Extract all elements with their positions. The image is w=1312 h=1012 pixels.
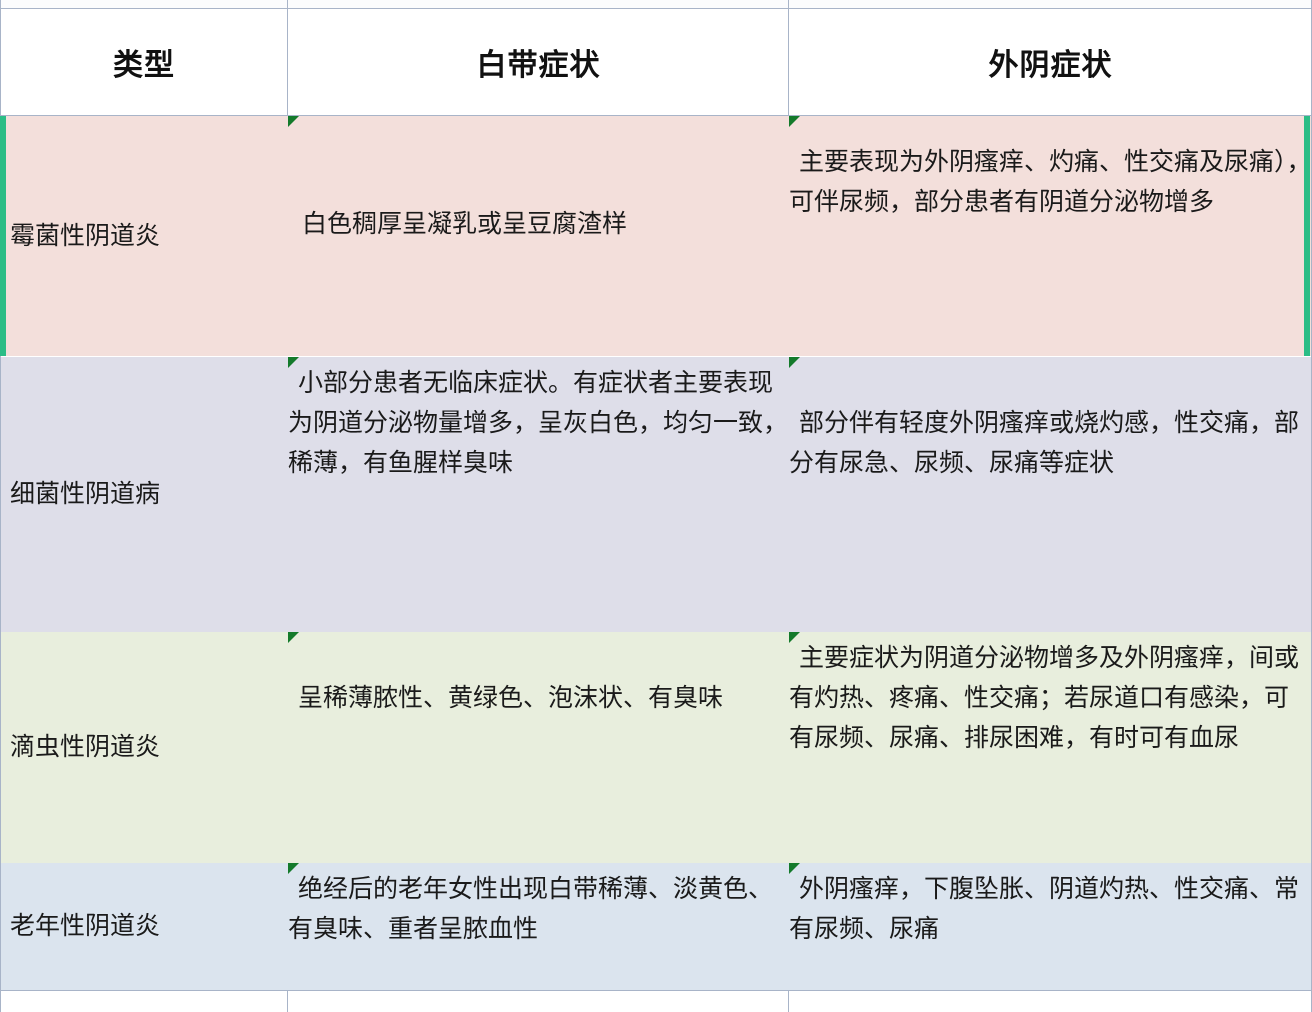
cell-type-1[interactable]: 霉菌性阴道炎 (0, 116, 288, 356)
table-trailing-empty-row (0, 991, 1312, 1012)
gridline-col1-bottom (287, 990, 288, 1012)
row-selection-handle-left[interactable] (0, 116, 6, 356)
column-header-vulvar: 外阴症状 (789, 40, 1312, 84)
cell-vulvar-4[interactable]: 外阴瘙痒，下腹坠胀、阴道灼热、性交痛、常有尿频、尿痛 (789, 863, 1312, 990)
column-header-type: 类型 (0, 40, 288, 84)
comment-marker-icon (288, 116, 299, 127)
comment-marker-icon (789, 357, 800, 368)
gridline-col1-header (287, 0, 288, 116)
row-2-vulvar-text: 部分伴有轻度外阴瘙痒或烧灼感，性交痛，部分有尿急、尿频、尿痛等症状 (789, 409, 1299, 477)
cell-leukorrhea-3[interactable]: 呈稀薄脓性、黄绿色、泡沫状、有臭味 (288, 632, 789, 863)
comment-marker-icon (789, 863, 800, 874)
gridline-col2-header (788, 0, 789, 116)
row-selection-handle-right[interactable] (1304, 116, 1310, 356)
cell-type-2[interactable]: 细菌性阴道病 (0, 357, 288, 632)
row-2-leukorrhea-text: 小部分患者无临床症状。有症状者主要表现为阴道分泌物量增多，呈灰白色，均匀一致，稀… (288, 369, 788, 477)
sheet-top-partial-row (0, 0, 1312, 8)
gridline-bottom (0, 990, 1312, 991)
table-header-row: 类型 白带症状 外阴症状 (0, 9, 1312, 115)
row-1-vulvar-text: 主要表现为外阴瘙痒、灼痛、性交痛及尿痛），可伴尿频，部分患者有阴道分泌物增多 (789, 148, 1312, 216)
comment-marker-icon (288, 357, 299, 368)
row-4-type-label: 老年性阴道炎 (0, 910, 160, 943)
row-1-type-label: 霉菌性阴道炎 (0, 220, 160, 253)
row-2-type-label: 细菌性阴道病 (0, 478, 160, 511)
cell-type-3[interactable]: 滴虫性阴道炎 (0, 632, 288, 863)
comment-marker-icon (789, 632, 800, 643)
row-3-leukorrhea-text: 呈稀薄脓性、黄绿色、泡沫状、有臭味 (288, 684, 729, 712)
table-row[interactable]: 霉菌性阴道炎 白色稠厚呈凝乳或呈豆腐渣样 主要表现为外阴瘙痒、灼痛、性交痛及尿痛… (0, 116, 1312, 356)
cell-vulvar-2[interactable]: 部分伴有轻度外阴瘙痒或烧灼感，性交痛，部分有尿急、尿频、尿痛等症状 (789, 357, 1312, 632)
cell-vulvar-3[interactable]: 主要症状为阴道分泌物增多及外阴瘙痒，间或有灼热、疼痛、性交痛；若尿道口有感染，可… (789, 632, 1312, 863)
cell-leukorrhea-2[interactable]: 小部分患者无临床症状。有症状者主要表现为阴道分泌物量增多，呈灰白色，均匀一致，稀… (288, 357, 789, 632)
cell-leukorrhea-1[interactable]: 白色稠厚呈凝乳或呈豆腐渣样 (288, 116, 789, 356)
cell-vulvar-1[interactable]: 主要表现为外阴瘙痒、灼痛、性交痛及尿痛），可伴尿频，部分患者有阴道分泌物增多 (789, 116, 1312, 356)
cell-leukorrhea-4[interactable]: 绝经后的老年女性出现白带稀薄、淡黄色、有臭味、重者呈脓血性 (288, 863, 789, 990)
comment-marker-icon (288, 863, 299, 874)
header-cell-vulvar: 外阴症状 (789, 9, 1312, 115)
gridline-col2-bottom (788, 990, 789, 1012)
spreadsheet-sheet: 类型 白带症状 外阴症状 霉菌性阴道炎 白色稠厚呈凝乳或呈豆腐渣样 (0, 0, 1312, 1012)
row-3-type-label: 滴虫性阴道炎 (0, 731, 160, 764)
comment-marker-icon (789, 116, 800, 127)
row-4-leukorrhea-text: 绝经后的老年女性出现白带稀薄、淡黄色、有臭味、重者呈脓血性 (288, 875, 773, 943)
table-row[interactable]: 滴虫性阴道炎 呈稀薄脓性、黄绿色、泡沫状、有臭味 主要症状为阴道分泌物增多及外阴… (0, 632, 1312, 863)
header-cell-leukorrhea: 白带症状 (288, 9, 789, 115)
row-1-leukorrhea-text: 白色稠厚呈凝乳或呈豆腐渣样 (288, 210, 633, 238)
comment-marker-icon (288, 632, 299, 643)
column-header-leukorrhea: 白带症状 (288, 40, 789, 84)
row-4-vulvar-text: 外阴瘙痒，下腹坠胀、阴道灼热、性交痛、常有尿频、尿痛 (789, 875, 1299, 943)
cell-type-4[interactable]: 老年性阴道炎 (0, 863, 288, 990)
table-row[interactable]: 细菌性阴道病 小部分患者无临床症状。有症状者主要表现为阴道分泌物量增多，呈灰白色… (0, 357, 1312, 632)
header-cell-type: 类型 (0, 9, 288, 115)
table-row[interactable]: 老年性阴道炎 绝经后的老年女性出现白带稀薄、淡黄色、有臭味、重者呈脓血性 外阴瘙… (0, 863, 1312, 990)
row-3-vulvar-text: 主要症状为阴道分泌物增多及外阴瘙痒，间或有灼热、疼痛、性交痛；若尿道口有感染，可… (789, 644, 1299, 752)
